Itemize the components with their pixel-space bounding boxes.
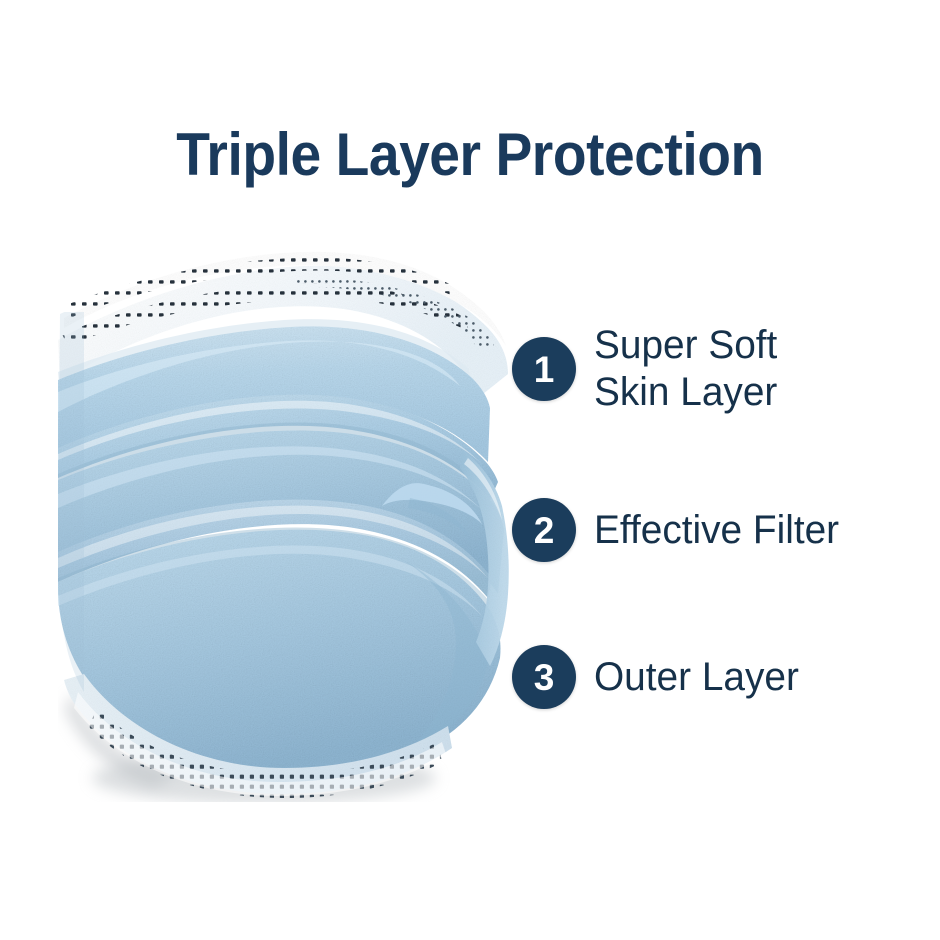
feature-badge-1: 1 xyxy=(512,337,576,401)
page-title: Triple Layer Protection xyxy=(38,123,903,187)
feature-label-3: Outer Layer xyxy=(594,654,799,701)
feature-item-2: 2 Effective Filter xyxy=(512,498,847,562)
feature-badge-2: 2 xyxy=(512,498,576,562)
feature-item-1: 1 Super Soft Skin Layer xyxy=(512,322,783,416)
mask-product-image xyxy=(58,222,518,802)
feature-label-1: Super Soft Skin Layer xyxy=(594,322,777,416)
feature-badge-3: 3 xyxy=(512,645,576,709)
feature-item-3: 3 Outer Layer xyxy=(512,645,805,709)
triple-layer-protection-infographic: Triple Layer Protection xyxy=(0,0,940,940)
feature-label-2: Effective Filter xyxy=(594,507,839,554)
